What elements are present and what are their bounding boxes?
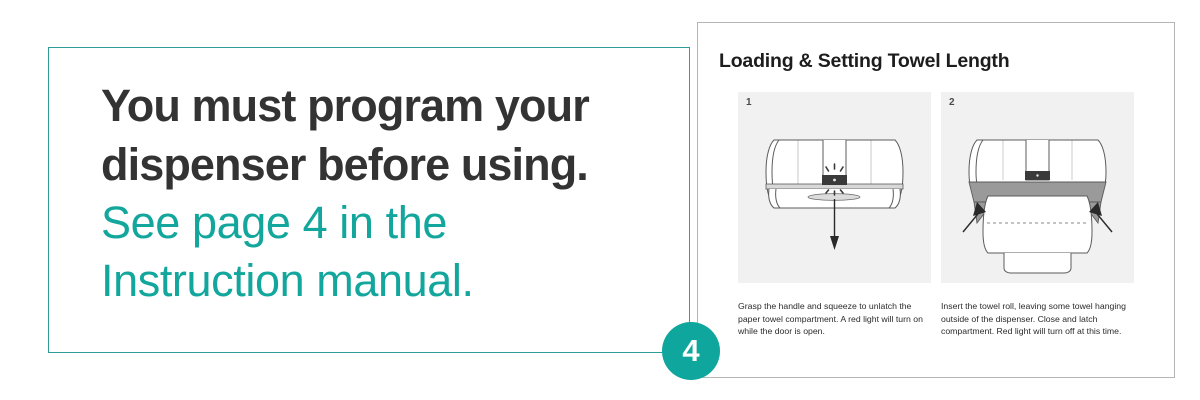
callout-text-block: You must program your dispenser before u…: [101, 76, 681, 310]
dispenser-unlatch-illustration: [738, 92, 931, 283]
panel-2-number: 2: [949, 97, 955, 108]
panel-1-number: 1: [746, 97, 752, 108]
instruction-panel-1: 1: [738, 92, 931, 338]
panel-2-figure: 2: [941, 92, 1134, 283]
subline-1: See page 4 in the: [101, 194, 681, 252]
step-number-badge: 4: [662, 322, 720, 380]
panel-1-figure: 1: [738, 92, 931, 283]
panel-1-caption: Grasp the handle and squeeze to unlatch …: [738, 300, 926, 338]
callout-box: You must program your dispenser before u…: [48, 47, 690, 353]
towel-roll-insert-illustration: [941, 92, 1134, 283]
headline-line-1: You must program your: [101, 76, 681, 135]
panel-2-caption: Insert the towel roll, leaving some towe…: [941, 300, 1129, 338]
step-number-badge-label: 4: [682, 335, 699, 366]
instruction-card: Loading & Setting Towel Length 1: [697, 22, 1175, 378]
headline-line-2: dispenser before using.: [101, 135, 681, 194]
instruction-card-title: Loading & Setting Towel Length: [719, 50, 1009, 73]
instruction-panels: 1: [738, 92, 1150, 338]
subline-2: Instruction manual.: [101, 252, 681, 310]
instruction-panel-2: 2: [941, 92, 1134, 338]
